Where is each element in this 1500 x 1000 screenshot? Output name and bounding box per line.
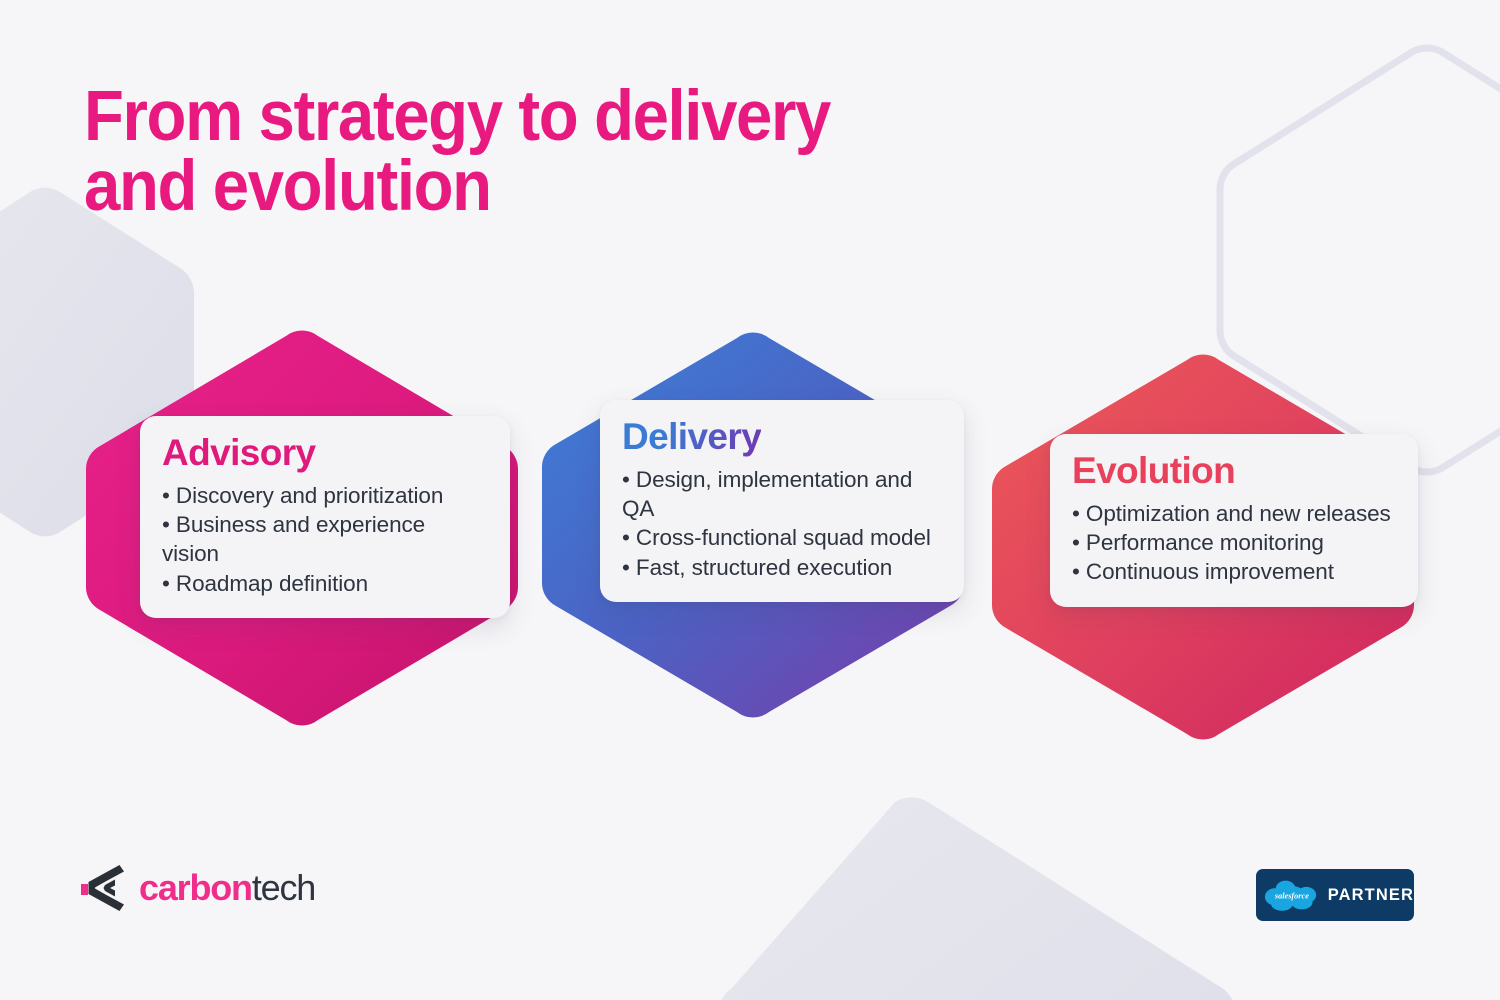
logo-word-tech: tech <box>252 870 315 906</box>
bullet-item: • Business and experience vision <box>162 510 488 569</box>
carbontech-hex-c-mark-icon <box>80 862 128 914</box>
salesforce-cloud-icon: salesforce <box>1264 875 1320 915</box>
bullet-item: • Continuous improvement <box>1072 557 1396 586</box>
bullet-item: • Fast, structured execution <box>622 553 942 582</box>
salesforce-partner-badge[interactable]: salesforce PARTNER <box>1256 869 1414 921</box>
bullet-item: • Cross-functional squad model <box>622 523 942 552</box>
bullet-item: • Roadmap definition <box>162 569 488 598</box>
salesforce-wordmark: salesforce <box>1274 892 1309 901</box>
bullet-item: • Design, implementation and QA <box>622 465 942 524</box>
carbontech-logo[interactable]: carbontech <box>80 862 315 914</box>
card-title-evolution: Evolution <box>1072 452 1396 491</box>
card-delivery[interactable]: Delivery • Design, implementation and QA… <box>600 400 964 602</box>
logo-word-carbon: carbon <box>139 870 252 906</box>
card-bullets-advisory: • Discovery and prioritization • Busines… <box>162 481 488 598</box>
card-bullets-delivery: • Design, implementation and QA • Cross-… <box>622 465 942 582</box>
bullet-item: • Performance monitoring <box>1072 528 1396 557</box>
card-title-delivery: Delivery <box>622 418 761 457</box>
card-evolution[interactable]: Evolution • Optimization and new release… <box>1050 434 1418 607</box>
carbontech-wordmark: carbontech <box>139 870 315 906</box>
card-bullets-evolution: • Optimization and new releases • Perfor… <box>1072 499 1396 587</box>
card-advisory[interactable]: Advisory • Discovery and prioritization … <box>140 416 510 618</box>
logo-inner-c <box>104 880 116 897</box>
bullet-item: • Optimization and new releases <box>1072 499 1396 528</box>
process-steps-stage: Advisory • Discovery and prioritization … <box>0 0 1500 1000</box>
logo-accent-bar <box>81 884 88 895</box>
card-title-advisory: Advisory <box>162 434 488 473</box>
bullet-item: • Discovery and prioritization <box>162 481 488 510</box>
partner-label: PARTNER <box>1328 886 1414 905</box>
